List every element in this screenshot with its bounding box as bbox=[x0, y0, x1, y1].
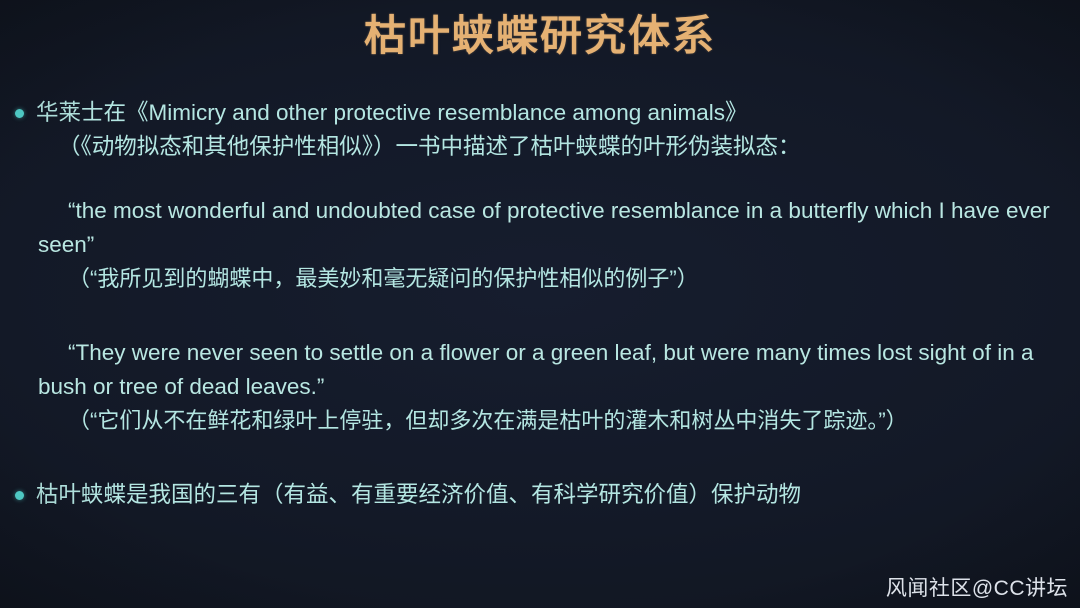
bullet-item-wallace-line2: （《动物拟态和其他保护性相似》）一书中描述了枯叶蛱蝶的叶形伪装拟态： bbox=[36, 130, 1062, 164]
watermark: 风闻社区@CC讲坛 bbox=[886, 574, 1068, 604]
page-title: 枯叶蛱蝶研究体系 bbox=[0, 6, 1080, 66]
bullet-item-wallace: 华莱士在《Mimicry and other protective resemb… bbox=[0, 96, 1080, 164]
bullet-dot-icon bbox=[15, 109, 24, 118]
slide-body: 华莱士在《Mimicry and other protective resemb… bbox=[0, 96, 1080, 512]
quote-one-chinese: （“我所见到的蝴蝶中，最美妙和毫无疑问的保护性相似的例子”） bbox=[0, 262, 1080, 296]
quote-two-english: “They were never seen to settle on a flo… bbox=[0, 336, 1080, 404]
bullet-item-wallace-line1: 华莱士在《Mimicry and other protective resemb… bbox=[36, 100, 748, 125]
spacer bbox=[0, 438, 1080, 478]
bullet-dot-icon bbox=[15, 491, 24, 500]
spacer bbox=[0, 164, 1080, 194]
quote-one-english: “the most wonderful and undoubted case o… bbox=[0, 194, 1080, 262]
presentation-slide: 枯叶蛱蝶研究体系 华莱士在《Mimicry and other protecti… bbox=[0, 0, 1080, 608]
quote-two-chinese: （“它们从不在鲜花和绿叶上停驻，但却多次在满是枯叶的灌木和树丛中消失了踪迹。”） bbox=[0, 404, 1080, 438]
spacer bbox=[0, 296, 1080, 336]
bullet-item-protected-animal-line1: 枯叶蛱蝶是我国的三有（有益、有重要经济价值、有科学研究价值）保护动物 bbox=[36, 482, 801, 507]
bullet-item-protected-animal: 枯叶蛱蝶是我国的三有（有益、有重要经济价值、有科学研究价值）保护动物 bbox=[0, 478, 1080, 512]
